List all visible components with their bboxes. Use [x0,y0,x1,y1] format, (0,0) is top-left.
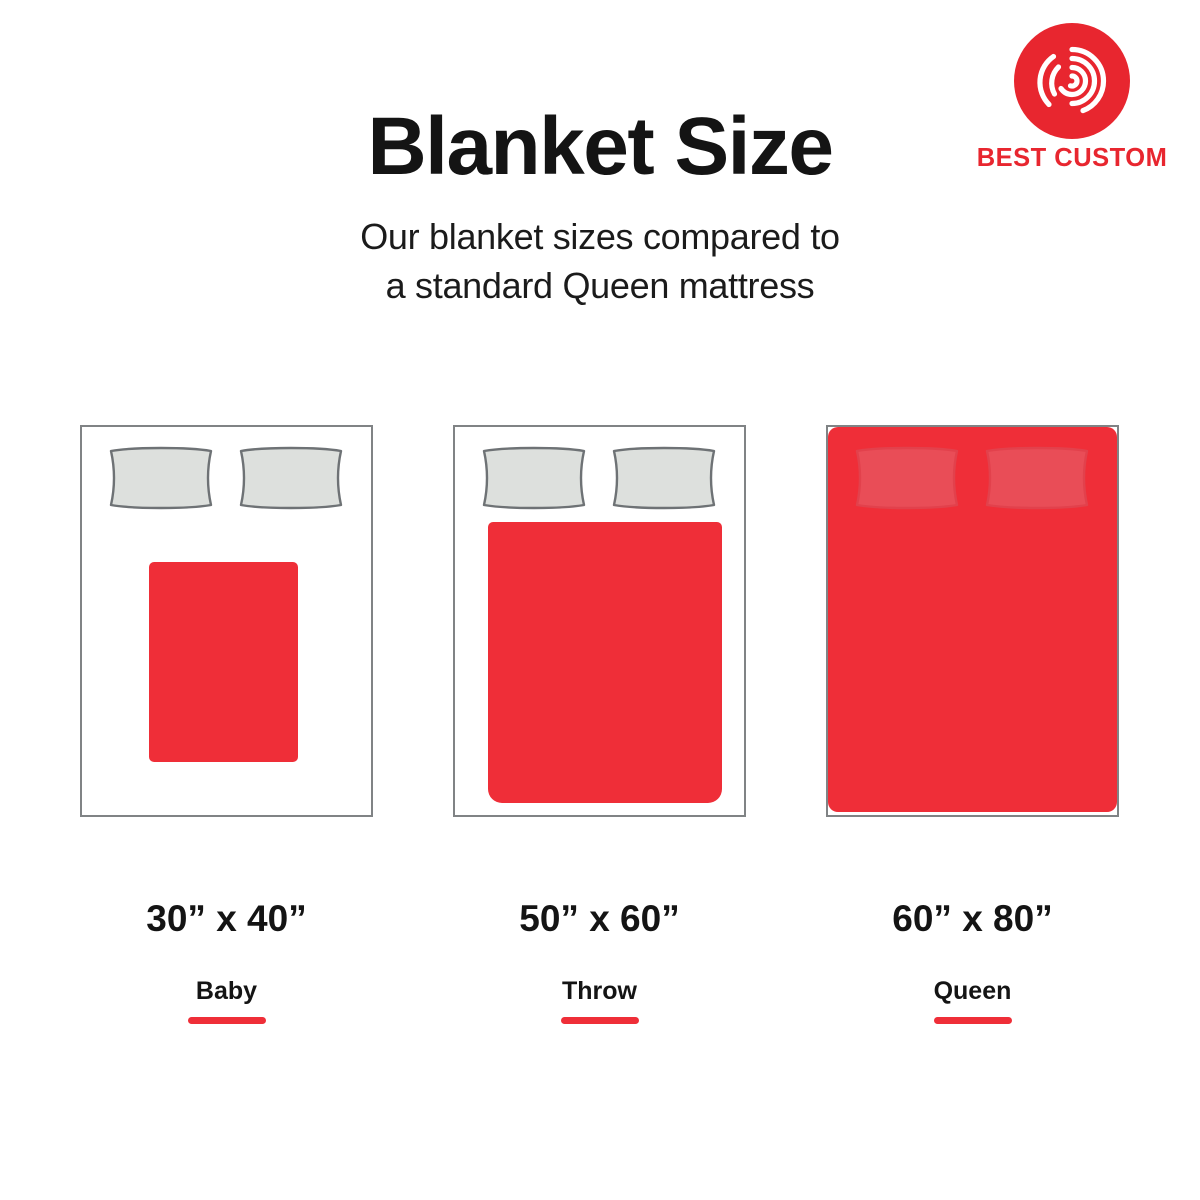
size-name-label: Queen [826,979,1119,1004]
subtitle-line-1: Our blanket sizes compared to [250,213,950,262]
size-name-label: Throw [453,979,746,1004]
subtitle-line-2: a standard Queen mattress [250,262,950,311]
blanket-baby [149,562,298,762]
pillow-left [852,445,962,511]
bed-diagram-baby [80,425,373,817]
accent-underline [188,1017,266,1024]
dimension-label: 30” x 40” [80,900,373,937]
page-title: Blanket Size [0,104,1200,189]
size-name-label: Baby [80,979,373,1004]
caption-throw: 50” x 60” Throw [453,900,746,1024]
accent-underline [934,1017,1012,1024]
dimension-label: 60” x 80” [826,900,1119,937]
pillow-left [106,445,216,511]
page-subtitle: Our blanket sizes compared to a standard… [250,213,950,311]
bed-diagram-throw [453,425,746,817]
bed-comparison-row [0,425,1200,817]
caption-baby: 30” x 40” Baby [80,900,373,1024]
header: Blanket Size Our blanket sizes compared … [0,104,1200,311]
pillow-left [479,445,589,511]
accent-underline [561,1017,639,1024]
pillow-right [982,445,1092,511]
pillow-right [236,445,346,511]
dimension-label: 50” x 60” [453,900,746,937]
blanket-throw [488,522,722,803]
bed-diagram-queen [826,425,1119,817]
caption-queen: 60” x 80” Queen [826,900,1119,1024]
pillow-right [609,445,719,511]
caption-row: 30” x 40” Baby 50” x 60” Throw 60” x 80”… [0,900,1200,1040]
